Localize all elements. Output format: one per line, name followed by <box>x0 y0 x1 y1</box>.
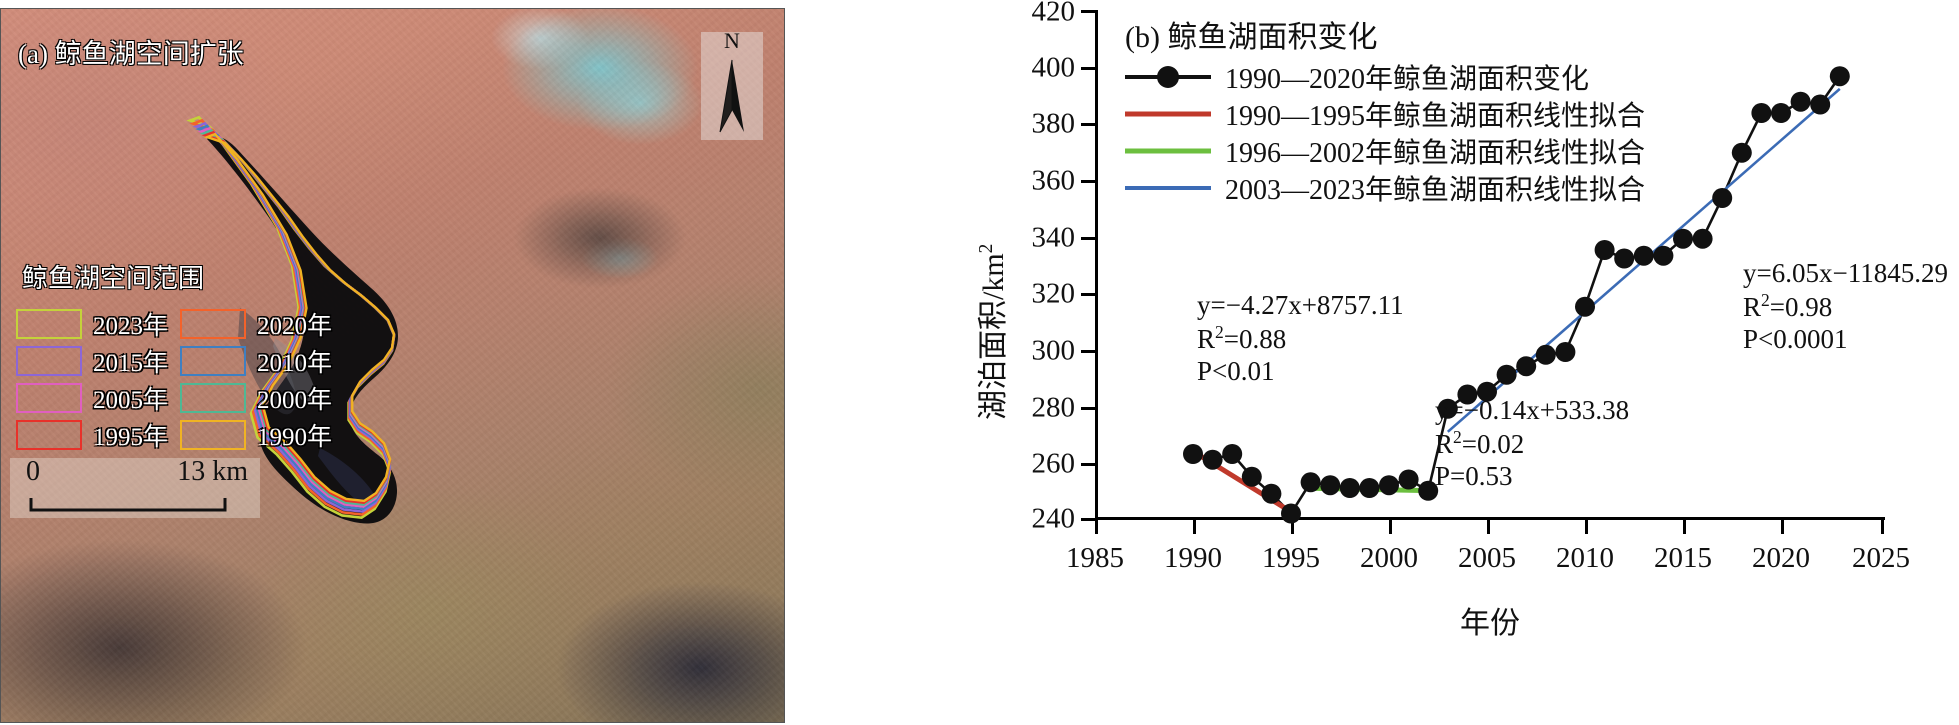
x-tick-2010: 2010 <box>1556 542 1614 575</box>
x-tick-2015: 2015 <box>1654 542 1712 575</box>
legend-item-2015: 2015年 <box>16 342 174 379</box>
x-tick-2000: 2000 <box>1360 542 1418 575</box>
chart-legend-item-fit-1996-2002: 1996—2002年鲸鱼湖面积线性拟合 <box>1125 132 1645 169</box>
y-tick-400: 400 <box>1032 52 1076 85</box>
legend-key-line-marker-icon <box>1125 66 1211 88</box>
annotation-p-2: P<0.0001 <box>1743 324 1948 356</box>
y-tick-380: 380 <box>1032 108 1076 141</box>
plot-area: 420 400 380 360 340 320 300 280 260 240 <box>1095 10 1885 520</box>
x-tick-labels: 1985 1990 1995 2000 2005 2010 2015 2020 … <box>1095 542 1885 582</box>
figure-root: (a) 鲸鱼湖空间扩张 N 鲸鱼湖空间范围 2023年 2020年 <box>0 0 1959 725</box>
legend-key-blue-line-icon <box>1125 177 1211 199</box>
annotation-fit-1990-1995: y=−4.27x+8757.11 R2=0.88 P<0.01 <box>1197 290 1404 388</box>
north-arrow-label: N <box>724 28 740 54</box>
y-tick-300: 300 <box>1032 335 1076 368</box>
x-tick-1985: 1985 <box>1066 542 1124 575</box>
legend-item-1995: 1995年 <box>16 416 174 453</box>
y-tick-420: 420 <box>1032 0 1076 29</box>
annotation-r2-3: R2=0.02 <box>1435 427 1629 461</box>
chart-legend-item-fit-1990-1995: 1990—1995年鲸鱼湖面积线性拟合 <box>1125 95 1645 132</box>
chart-legend: 1990—2020年鲸鱼湖面积变化 1990—1995年鲸鱼湖面积线性拟合 19… <box>1125 58 1645 206</box>
legend-item-2010: 2010年 <box>180 342 338 379</box>
chart-panel-label: (b) 鲸鱼湖面积变化 <box>1125 12 1377 56</box>
legend-item-2000: 2000年 <box>180 379 338 416</box>
legend-swatch-2000 <box>180 383 246 413</box>
legend-swatch-2010 <box>180 346 246 376</box>
legend-swatch-2023 <box>16 309 82 339</box>
chart-legend-label-series: 1990—2020年鲸鱼湖面积变化 <box>1225 57 1589 97</box>
map-legend-title: 鲸鱼湖空间范围 <box>22 258 338 295</box>
x-tick-2025: 2025 <box>1852 542 1910 575</box>
x-tick-1995: 1995 <box>1262 542 1320 575</box>
annotation-eq-3: y=−0.14x+533.38 <box>1435 395 1629 427</box>
chart-legend-label-fit-1996-2002: 1996—2002年鲸鱼湖面积线性拟合 <box>1225 131 1645 171</box>
annotation-eq-1: y=−4.27x+8757.11 <box>1197 290 1404 322</box>
legend-swatch-2015 <box>16 346 82 376</box>
annotation-fit-1996-2002: y=−0.14x+533.38 R2=0.02 P=0.53 <box>1435 395 1629 493</box>
scale-min-label: 0 <box>26 456 40 488</box>
legend-swatch-2005 <box>16 383 82 413</box>
x-tick-1990: 1990 <box>1164 542 1222 575</box>
legend-label-1990: 1990年 <box>257 417 332 453</box>
scale-bar-icon <box>28 496 228 514</box>
chart-legend-label-fit-2003-2023: 2003—2023年鲸鱼湖面积线性拟合 <box>1225 168 1645 208</box>
legend-swatch-1990 <box>180 420 246 450</box>
legend-label-2005: 2005年 <box>93 380 168 416</box>
legend-label-2023: 2023年 <box>93 306 168 342</box>
annotation-r2-2: R2=0.98 <box>1743 290 1948 324</box>
legend-key-red-line-icon <box>1125 103 1211 125</box>
y-tick-320: 320 <box>1032 278 1076 311</box>
chart-legend-item-fit-2003-2023: 2003—2023年鲸鱼湖面积线性拟合 <box>1125 169 1645 206</box>
legend-item-2023: 2023年 <box>16 305 174 342</box>
legend-label-2020: 2020年 <box>257 306 332 342</box>
legend-label-2015: 2015年 <box>93 343 168 379</box>
y-tick-240: 240 <box>1032 503 1076 536</box>
map-legend: 鲸鱼湖空间范围 2023年 2020年 2015年 2010年 <box>8 258 338 453</box>
legend-item-2005: 2005年 <box>16 379 174 416</box>
chart-legend-item-series: 1990—2020年鲸鱼湖面积变化 <box>1125 58 1645 95</box>
legend-swatch-2020 <box>180 309 246 339</box>
legend-key-green-line-icon <box>1125 140 1211 162</box>
annotation-p-1: P<0.01 <box>1197 356 1404 388</box>
map-panel-label: (a) 鲸鱼湖空间扩张 <box>18 32 244 71</box>
legend-label-2000: 2000年 <box>257 380 332 416</box>
x-tick-2005: 2005 <box>1458 542 1516 575</box>
scale-max-label: 13 km <box>177 456 248 488</box>
y-tick-labels: 420 400 380 360 340 320 300 280 260 240 <box>980 10 1075 520</box>
x-tick-2020: 2020 <box>1752 542 1810 575</box>
chart-legend-label-fit-1990-1995: 1990—1995年鲸鱼湖面积线性拟合 <box>1225 94 1645 134</box>
legend-label-2010: 2010年 <box>257 343 332 379</box>
y-tick-360: 360 <box>1032 165 1076 198</box>
legend-swatch-1995 <box>16 420 82 450</box>
map-scale-bar: 0 13 km <box>10 458 260 518</box>
y-tick-340: 340 <box>1032 222 1076 255</box>
y-tick-280: 280 <box>1032 392 1076 425</box>
annotation-eq-2: y=6.05x−11845.29 <box>1743 258 1948 290</box>
legend-label-1995: 1995年 <box>93 417 168 453</box>
annotation-r2-1: R2=0.88 <box>1197 322 1404 356</box>
chart-panel-b: 湖泊面积/km2 420 400 380 <box>880 0 1959 725</box>
legend-item-1990: 1990年 <box>180 416 338 453</box>
map-panel-a: (a) 鲸鱼湖空间扩张 N 鲸鱼湖空间范围 2023年 2020年 <box>0 8 785 723</box>
map-legend-grid: 2023年 2020年 2015年 2010年 2005年 <box>16 305 338 453</box>
y-tick-260: 260 <box>1032 448 1076 481</box>
north-arrow-icon <box>715 58 749 134</box>
north-arrow: N <box>701 32 763 140</box>
legend-item-2020: 2020年 <box>180 305 338 342</box>
annotation-p-3: P=0.53 <box>1435 461 1629 493</box>
x-axis-title: 年份 <box>1095 598 1885 642</box>
annotation-fit-2003-2023: y=6.05x−11845.29 R2=0.98 P<0.0001 <box>1743 258 1948 356</box>
